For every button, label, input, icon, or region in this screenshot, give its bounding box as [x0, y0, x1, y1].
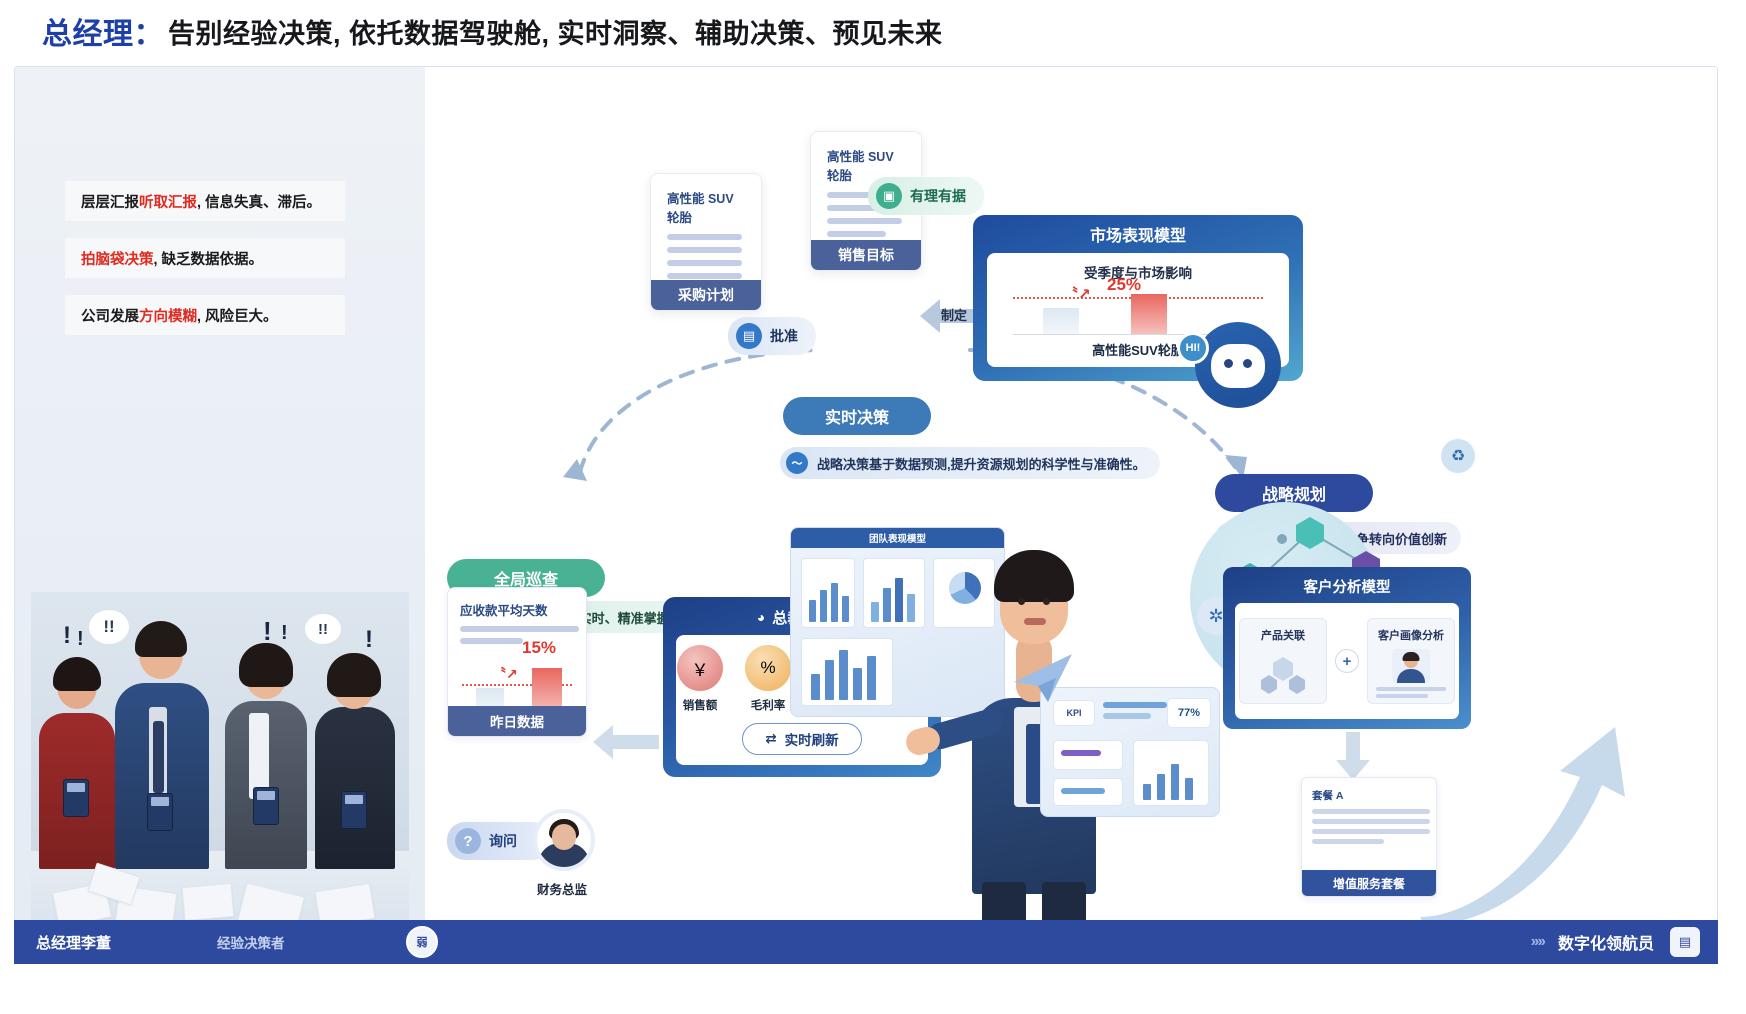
pain-point-highlight: 听取汇报 — [139, 191, 197, 212]
pain-point-prefix: 公司发展 — [81, 305, 139, 326]
person-figure — [107, 617, 215, 869]
pain-point-item: 层层汇报听取汇报, 信息失真、滞后。 — [65, 181, 345, 221]
person-figure — [217, 643, 313, 869]
pain-point-item: 公司发展方向模糊, 风险巨大。 — [65, 295, 345, 335]
customer-subcard[interactable]: 产品关联 — [1239, 618, 1327, 704]
plus-icon: + — [1335, 649, 1359, 673]
robot-greeting-bubble: HI! — [1177, 332, 1209, 364]
finance-director-role: 财务总监 — [477, 879, 647, 898]
diagram-canvas: 高性能 SUV 轮胎 采购计划 ▤ 批准 高性能 SUV 轮胎 — [425, 67, 1718, 986]
receivable-days-card: 应收款平均天数 〝↗ 15% 昨日数据 — [447, 587, 587, 737]
paper-plane-icon — [1012, 652, 1074, 704]
app-grid-icon[interactable]: ▤ — [1670, 927, 1700, 957]
growth-swoosh-arrow — [1410, 667, 1650, 927]
scattered-paper — [182, 883, 235, 921]
page-footer: 总经理李董 经验决策者 弱 ›››› 数字化领航员 ▤ — [14, 920, 1718, 964]
refresh-icon: ⇄ — [765, 731, 776, 747]
percent-clipboard-icon: % — [745, 645, 791, 691]
pain-point-suffix: , 信息失真、滞后。 — [197, 191, 321, 212]
kpi-item[interactable]: ￥ 销售额 — [674, 645, 726, 713]
footer-left: 总经理李董 经验决策者 — [14, 920, 424, 964]
kpi-label: 销售额 — [674, 697, 726, 713]
realtime-decision-note-text: 战略决策基于数据预测,提升资源规划的科学性与准确性。 — [817, 454, 1146, 473]
realtime-decision-badge[interactable]: 实时决策 — [783, 397, 931, 435]
footer-left-role: 经验决策者 — [217, 932, 285, 952]
footer-right: ›››› 数字化领航员 ▤ — [424, 920, 1718, 964]
approve-tag: ▤ 批准 — [728, 317, 816, 355]
approve-label: 批准 — [770, 326, 798, 346]
content-frame: 层层汇报听取汇报, 信息失真、滞后。 拍脑袋决策, 缺乏数据依据。 公司发展方向… — [14, 66, 1718, 986]
pain-point-highlight: 方向模糊 — [139, 305, 197, 326]
network-nodes-icon — [1255, 649, 1311, 697]
receivable-days-percent: 15% — [522, 638, 556, 658]
trend-up-icon: 〝↗ — [492, 664, 518, 684]
question-mark-icon: ? — [455, 828, 481, 854]
exclamation-icon: ! — [281, 622, 288, 645]
page-title-tagline: 告别经验决策, 依托数据驾驶舱, 实时洞察、辅助决策、预见未来 — [168, 12, 943, 51]
slide-root: 总经理： 告别经验决策, 依托数据驾驶舱, 实时洞察、辅助决策、预见未来 层层汇… — [0, 0, 1746, 1014]
exclamation-icon: ! — [365, 626, 373, 654]
pain-point-highlight: 拍脑袋决策 — [81, 248, 154, 269]
page-title-role: 总经理： — [42, 9, 164, 53]
receivable-days-title: 应收款平均天数 — [448, 588, 586, 626]
pain-point-suffix: , 缺乏数据依据。 — [154, 248, 264, 269]
left-panel: 层层汇报听取汇报, 信息失真、滞后。 拍脑袋决策, 缺乏数据依据。 公司发展方向… — [15, 67, 425, 986]
hero-illustration: 团队表现模型 — [790, 502, 1210, 922]
person-figure — [307, 651, 403, 869]
money-box-icon: ￥ — [677, 645, 723, 691]
purchase-plan-title: 高性能 SUV 轮胎 — [651, 174, 761, 234]
customer-subcard-title: 产品关联 — [1240, 627, 1326, 643]
ask-label: 询问 — [489, 831, 517, 851]
dashboard-to-ar-arrow — [593, 722, 659, 762]
realtime-decision-note: 〜 战略决策基于数据预测,提升资源规划的科学性与准确性。 — [780, 447, 1160, 479]
footer-center-badge: 弱 — [406, 926, 438, 958]
kpi-label: 毛利率 — [742, 697, 794, 713]
sales-target-footer: 销售目标 — [811, 240, 921, 270]
pain-point-item: 拍脑袋决策, 缺乏数据依据。 — [65, 238, 345, 278]
speech-bubble-icon: !! — [305, 614, 341, 644]
market-model-title: 市场表现模型 — [977, 219, 1299, 249]
pain-point-suffix: , 风险巨大。 — [197, 305, 278, 326]
pain-point-prefix: 层层汇报 — [81, 191, 139, 212]
footer-chevrons: ›››› — [1531, 933, 1544, 951]
evidence-label: 有理有据 — [910, 186, 966, 206]
evidence-tag: ▣ 有理有据 — [868, 177, 984, 215]
purchase-plan-footer: 采购计划 — [651, 280, 761, 310]
exclamation-icon: ! — [63, 622, 71, 650]
pie-chart-icon: ◕ — [757, 609, 765, 625]
receivable-days-footer: 昨日数据 — [448, 706, 586, 736]
trend-line-icon: 〜 — [786, 452, 808, 474]
trend-up-icon: 〝↗ — [1063, 283, 1091, 304]
customer-subcard-title: 客户画像分析 — [1368, 627, 1454, 643]
make-label: 制定 — [941, 305, 967, 324]
bottom-spacer — [14, 964, 1718, 1014]
footer-right-name: 数字化领航员 — [1558, 930, 1654, 954]
customer-to-package-arrow — [1333, 732, 1373, 780]
purchase-plan-card: 高性能 SUV 轮胎 采购计划 — [650, 173, 762, 311]
document-data-icon: ▣ — [876, 183, 902, 209]
customer-model-title: 客户分析模型 — [1227, 571, 1467, 601]
footer-left-name: 总经理李董 — [36, 932, 111, 953]
recycle-icon: ♻ — [1441, 439, 1475, 473]
ai-robot-avatar — [1195, 322, 1281, 408]
exclamation-icon: ! — [77, 628, 84, 651]
page-header: 总经理： 告别经验决策, 依托数据驾驶舱, 实时洞察、辅助决策、预见未来 — [0, 0, 1746, 62]
finance-director-avatar — [533, 809, 595, 871]
robot-face — [1211, 344, 1265, 388]
document-check-icon: ▤ — [736, 323, 762, 349]
argument-photo: !! ! ! ! ! !! ! — [31, 592, 409, 929]
kpi-item[interactable]: % 毛利率 — [742, 645, 794, 713]
market-model-percent: 25% — [1107, 275, 1141, 295]
